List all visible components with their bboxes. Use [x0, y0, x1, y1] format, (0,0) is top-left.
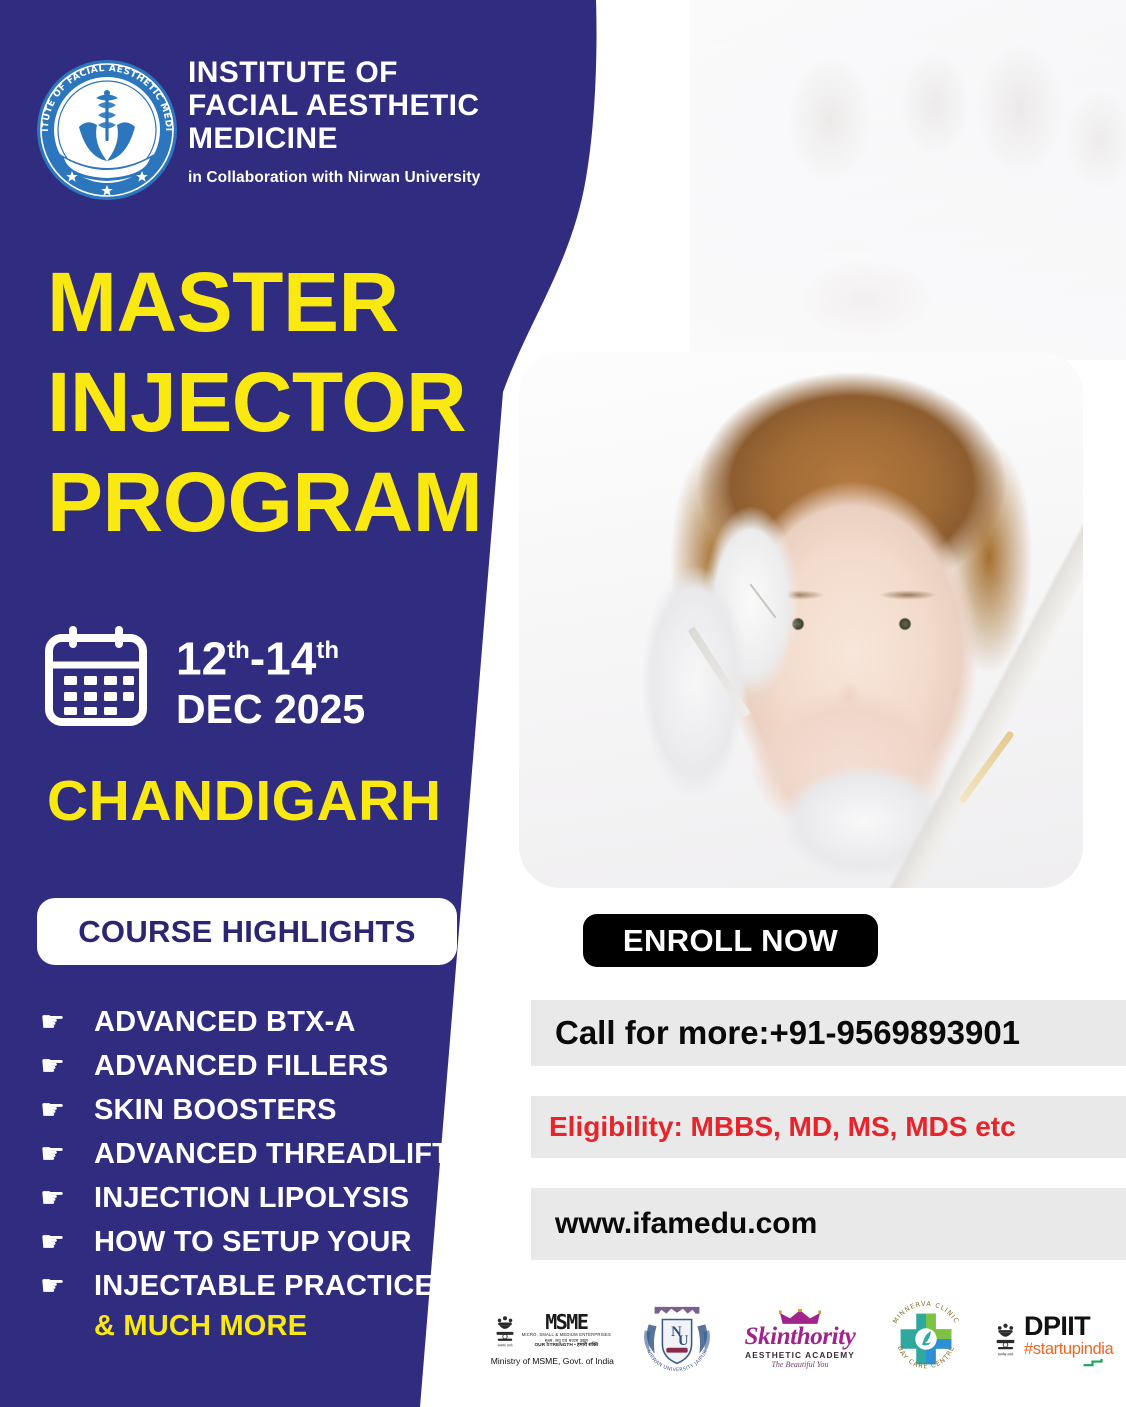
medical-cross-icon: MINNERVA CLINIC DAY CARE CENTRE	[885, 1298, 967, 1380]
nirwan-university-shield-icon: N U NIRWAN UNIVERSITY JAIPUR	[639, 1301, 715, 1377]
list-item: ☛ ADVANCED BTX-A	[40, 1000, 510, 1044]
india-emblem-icon: सत्यमेव जयते	[994, 1320, 1017, 1358]
pointing-hand-icon: ☛	[40, 1220, 74, 1264]
date-sup-end: th	[316, 637, 339, 664]
event-month-year: DEC 2025	[176, 685, 365, 733]
pointing-hand-icon: ☛	[40, 1000, 74, 1044]
date-sup-start: th	[227, 637, 250, 664]
list-item: ☛ SKIN BOOSTERS	[40, 1088, 510, 1132]
much-more-label: & MUCH MORE	[94, 1310, 510, 1343]
pointing-hand-icon: ☛	[40, 1176, 74, 1220]
list-item: ☛ ADVANCED FILLERS	[40, 1044, 510, 1088]
date-day-end: 14	[265, 632, 316, 684]
eligibility-band: Eligibility: MBBS, MD, MS, MDS etc	[531, 1096, 1126, 1158]
eligibility-text: Eligibility: MBBS, MD, MS, MDS etc	[549, 1111, 1016, 1143]
poster-header: INSTITUTE OF FACIAL AESTHETIC MEDICINE	[0, 0, 596, 220]
page-title: MASTER INJECTOR PROGRAM	[47, 252, 587, 552]
dpiit-wordmark: DPIIT	[1024, 1312, 1090, 1340]
list-item: ☛ INJECTION LIPOLYSIS	[40, 1176, 510, 1220]
svg-text:U: U	[678, 1333, 689, 1349]
msme-ministry-caption: Ministry of MSME, Govt. of India	[491, 1356, 614, 1366]
collaboration-text: in Collaboration with Nirwan University	[188, 169, 578, 187]
pointing-hand-icon: ☛	[40, 1088, 74, 1132]
brand-line-2: FACIAL AESTHETIC	[188, 89, 578, 122]
india-emblem-icon: सत्यमेव जयते	[494, 1313, 516, 1349]
model-photo-image	[519, 352, 1083, 888]
pointing-hand-icon: ☛	[40, 1132, 74, 1176]
event-city: CHANDIGARH	[47, 768, 441, 834]
skinthority-tagline: The Beautiful You	[771, 1360, 828, 1369]
list-item: ☛ INJECTABLE PRACTICE	[40, 1264, 510, 1308]
brand-line-1: INSTITUTE OF	[188, 56, 578, 89]
event-date-text: 12th-14th DEC 2025	[176, 620, 365, 733]
list-item-label: INJECTION LIPOLYSIS	[94, 1182, 409, 1215]
msme-strength-line: OUR STRENGTH • हमारी शक्ति	[534, 1343, 598, 1349]
list-item: ☛ HOW TO SETUP YOUR	[40, 1220, 510, 1264]
title-line-1: MASTER	[47, 252, 587, 352]
list-item-label: ADVANCED THREADLIFTS	[94, 1138, 470, 1171]
brand-line-3: MEDICINE	[188, 122, 578, 155]
list-item-label: HOW TO SETUP YOUR	[94, 1226, 412, 1259]
facial-injection-model-photo	[519, 352, 1083, 888]
ifam-circular-badge-logo: INSTITUTE OF FACIAL AESTHETIC MEDICINE	[34, 57, 180, 203]
course-highlights-heading: COURSE HIGHLIGHTS	[37, 898, 457, 965]
brand-text-block: INSTITUTE OF FACIAL AESTHETIC MEDICINE i…	[188, 56, 578, 187]
partner-logos-row: सत्यमेव जयते MSME MICRO, SMALL & MEDIUM …	[480, 1296, 1126, 1382]
list-item-label: ADVANCED BTX-A	[94, 1006, 356, 1039]
enroll-now-label: ENROLL NOW	[623, 923, 838, 959]
event-date-days: 12th-14th	[176, 624, 365, 685]
phone-number: Call for more:+91-9569893901	[555, 1014, 1020, 1052]
partner-logo-minnerva-clinic: MINNERVA CLINIC DAY CARE CENTRE	[885, 1298, 967, 1380]
date-separator: -	[250, 632, 265, 684]
list-item-label: SKIN BOOSTERS	[94, 1094, 337, 1127]
course-highlights-list: ☛ ADVANCED BTX-A ☛ ADVANCED FILLERS ☛ SK…	[40, 1000, 510, 1343]
partner-logo-skinthority: Skinthority AESTHETIC ACADEMY The Beauti…	[729, 1298, 872, 1380]
enroll-now-button[interactable]: ENROLL NOW	[583, 914, 878, 967]
website-band[interactable]: www.ifamedu.com	[531, 1188, 1126, 1260]
svg-text:सत्यमेव जयते: सत्यमेव जयते	[998, 1352, 1014, 1356]
date-day-start: 12	[176, 632, 227, 684]
partner-logo-dpiit: सत्यमेव जयते DPIIT #startupindia	[981, 1298, 1126, 1380]
skinthority-subtitle: AESTHETIC ACADEMY	[745, 1350, 855, 1360]
event-date-row: 12th-14th DEC 2025	[44, 620, 504, 733]
list-item-label: ADVANCED FILLERS	[94, 1050, 388, 1083]
website-url: www.ifamedu.com	[555, 1207, 817, 1241]
pointing-hand-icon: ☛	[40, 1264, 74, 1308]
msme-wordmark: MSME	[545, 1312, 587, 1332]
phone-band[interactable]: Call for more:+91-9569893901	[531, 1000, 1126, 1066]
title-line-2: INJECTOR	[47, 352, 587, 452]
startup-india-wordmark: #startupindia	[1024, 1340, 1113, 1359]
title-line-3: PROGRAM	[47, 452, 587, 552]
startup-india-swoosh-icon	[1081, 1358, 1113, 1367]
svg-text:सत्यमेव जयते: सत्यमेव जयते	[497, 1343, 512, 1347]
list-item-label: INJECTABLE PRACTICE	[94, 1270, 434, 1303]
list-item: ☛ ADVANCED THREADLIFTS	[40, 1132, 510, 1176]
course-highlights-label: COURSE HIGHLIGHTS	[78, 914, 416, 950]
poster-canvas: INSTITUTE OF FACIAL AESTHETIC MEDICINE	[0, 0, 1126, 1407]
pointing-hand-icon: ☛	[40, 1044, 74, 1088]
skinthority-wordmark: Skinthority	[745, 1324, 856, 1350]
partner-logo-msme: सत्यमेव जयते MSME MICRO, SMALL & MEDIUM …	[480, 1298, 625, 1380]
training-workshop-photo	[690, 0, 1126, 360]
partner-logo-nirwan-university: N U NIRWAN UNIVERSITY JAIPUR	[639, 1298, 715, 1380]
calendar-icon	[44, 624, 148, 728]
